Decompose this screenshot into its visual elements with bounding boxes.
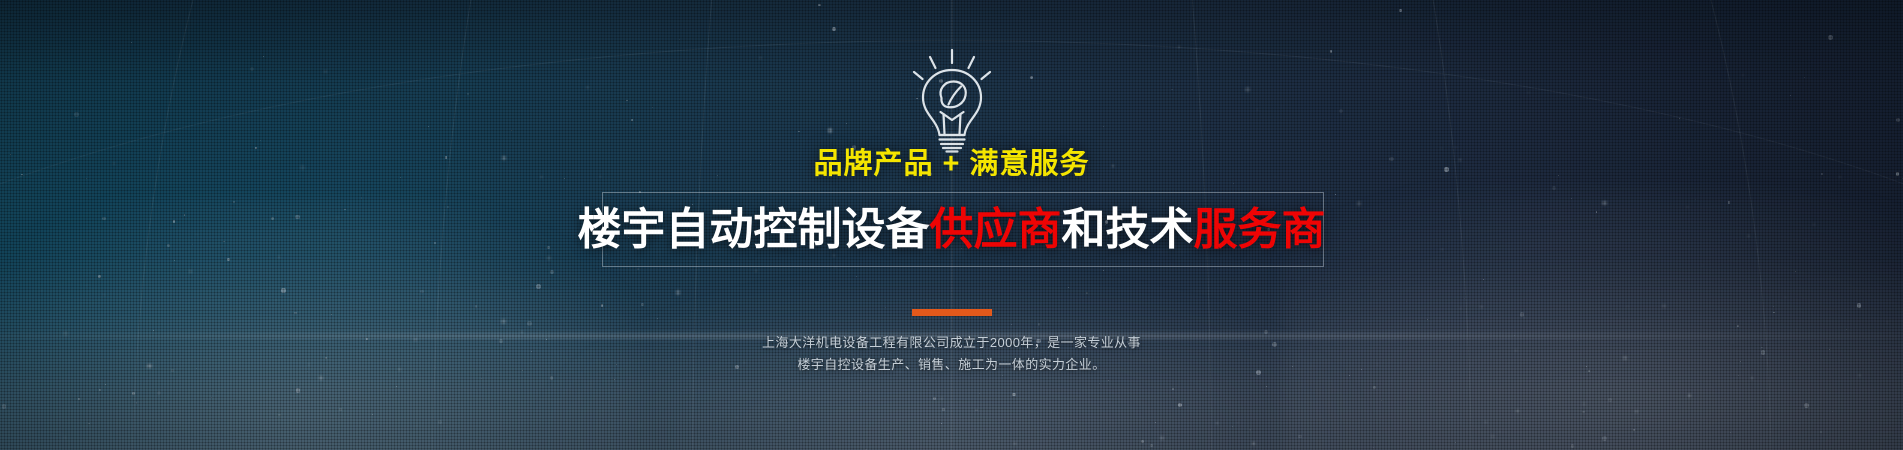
description-line-2: 楼宇自控设备生产、销售、施工为一体的实力企业。: [0, 354, 1903, 376]
tagline-text: 品牌产品 + 满意服务: [797, 144, 1105, 184]
headline-part-1: 楼宇自动控制设备: [578, 205, 930, 254]
headline-inner: 楼宇自动控制设备供应商和技术服务商: [568, 197, 1336, 263]
headline-part-3: 和技术: [1062, 205, 1194, 254]
lightbulb-icon: [894, 46, 1010, 154]
description: 上海大洋机电设备工程有限公司成立于2000年，是一家专业从事 楼宇自控设备生产、…: [0, 332, 1903, 376]
headline-part-2: 供应商: [930, 205, 1062, 254]
tagline: 品牌产品 + 满意服务: [0, 144, 1903, 184]
headline-part-4: 服务商: [1194, 205, 1326, 254]
headline: 楼宇自动控制设备供应商和技术服务商: [0, 197, 1903, 263]
hero-banner: 品牌产品 + 满意服务 楼宇自动控制设备供应商和技术服务商 上海大洋机电设备工程…: [0, 0, 1903, 450]
description-line-1: 上海大洋机电设备工程有限公司成立于2000年，是一家专业从事: [0, 332, 1903, 354]
orange-divider: [912, 309, 992, 316]
banner-content: 品牌产品 + 满意服务 楼宇自动控制设备供应商和技术服务商 上海大洋机电设备工程…: [0, 0, 1903, 450]
